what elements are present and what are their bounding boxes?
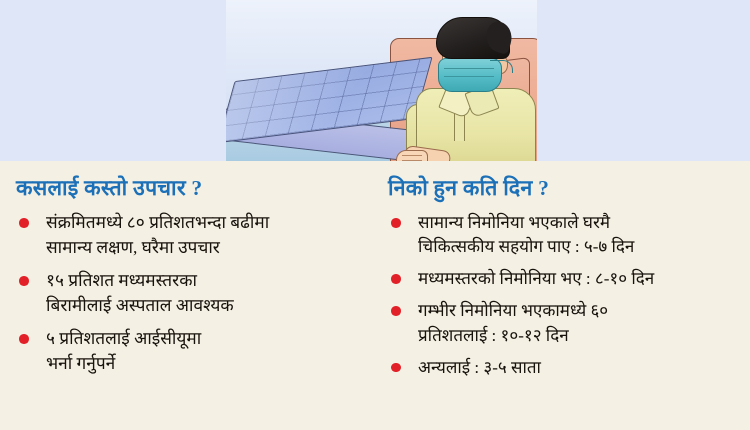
list-item: ५ प्रतिशतलाई आईसीयूमा भर्ना गर्नुपर्ने [14,327,358,376]
masked-patient-on-hospital-bed-illustration [226,0,537,161]
mask-ear-strap [490,60,513,73]
list-item-line: सामान्य लक्षण, घरैमा उपचार [46,236,358,261]
list-item: सामान्य निमोनिया भएकाले घरमै चिकित्सकीय … [386,211,740,259]
content-area: कसलाई कस्तो उपचार ? संक्रमितमध्ये ८० प्र… [0,161,750,430]
right-column-bullet-list: सामान्य निमोनिया भएकाले घरमै चिकित्सकीय … [386,211,740,380]
bullet-dot-icon [391,218,401,228]
right-column-title: निको हुन कति दिन ? [388,173,740,202]
list-item: मध्यमस्तरको निमोनिया भए : ८-१० दिन [386,267,740,291]
bullet-dot-icon [391,274,401,284]
list-item-line: ५ प्रतिशतलाई आईसीयूमा [46,327,358,352]
bullet-dot-icon [19,276,29,286]
list-item-line: सामान्य निमोनिया भएकाले घरमै [418,211,740,235]
list-item-line: संक्रमितमध्ये ८० प्रतिशतभन्दा बढीमा [46,211,358,236]
list-item-line: प्रतिशतलाई : १०-१२ दिन [418,324,740,348]
list-item: गम्भीर निमोनिया भएकामध्ये ६० प्रतिशतलाई … [386,299,740,347]
list-item-line: गम्भीर निमोनिया भएकामध्ये ६० [418,299,740,323]
patient-figure [402,8,537,161]
list-item-line: १५ प्रतिशत मध्यमस्तरका [46,269,358,294]
left-column-bullet-list: संक्रमितमध्ये ८० प्रतिशतभन्दा बढीमा सामा… [14,211,358,376]
list-item-line: अन्यलाई : ३-५ साता [418,356,740,380]
left-column-title: कसलाई कस्तो उपचार ? [16,173,358,202]
bullet-dot-icon [391,363,401,373]
infographic-root: कसलाई कस्तो उपचार ? संक्रमितमध्ये ८० प्र… [0,0,750,430]
patient-hand [396,150,428,161]
list-item: अन्यलाई : ३-५ साता [386,356,740,380]
list-item-line: बिरामीलाई अस्पताल आवश्यक [46,294,358,319]
list-item-line: चिकित्सकीय सहयोग पाए : ५-७ दिन [418,235,740,259]
list-item: संक्रमितमध्ये ८० प्रतिशतभन्दा बढीमा सामा… [14,211,358,260]
right-column: निको हुन कति दिन ? सामान्य निमोनिया भएका… [372,161,750,388]
list-item-line: मध्यमस्तरको निमोनिया भए : ८-१० दिन [418,267,740,291]
left-column: कसलाई कस्तो उपचार ? संक्रमितमध्ये ८० प्र… [0,161,372,385]
bullet-dot-icon [19,334,29,344]
list-item: १५ प्रतिशत मध्यमस्तरका बिरामीलाई अस्पताल… [14,269,358,318]
bullet-dot-icon [19,218,29,228]
mask-pleats [444,68,494,69]
illustration-band [0,0,750,161]
bullet-dot-icon [391,306,401,316]
list-item-line: भर्ना गर्नुपर्ने [46,352,358,377]
